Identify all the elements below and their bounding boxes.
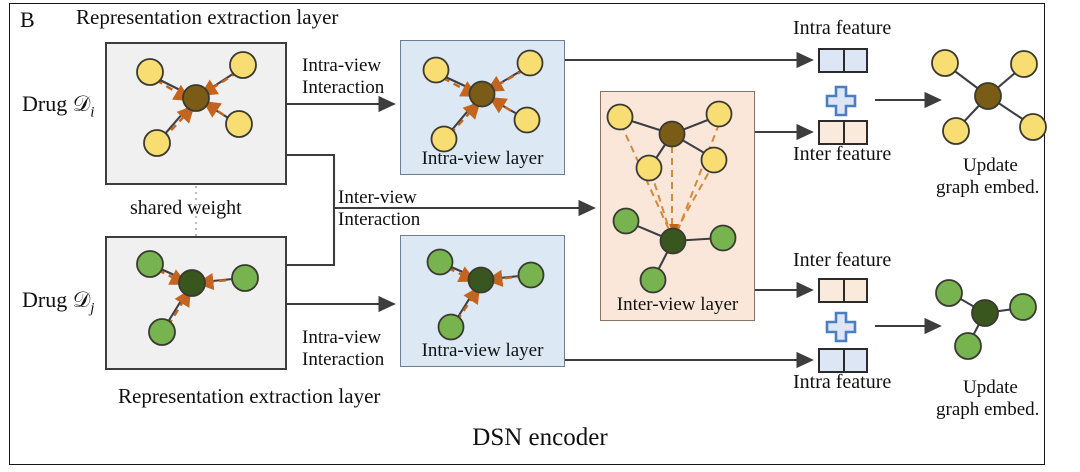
- intra-view-bottom-molecule-graph: [428, 250, 544, 340]
- drug-j-molecule-graph: [137, 251, 258, 345]
- update-graph-embed-top: [932, 50, 1046, 144]
- drug-i-molecule-graph: [137, 52, 256, 156]
- figure-panel-b: B Representation extraction layer Repres…: [0, 0, 1080, 472]
- arrow-inter-view: [287, 155, 594, 265]
- diagram-vector-layer: [0, 0, 1080, 472]
- inter-view-molecule-graphs: [608, 102, 736, 293]
- update-graph-embed-bottom: [936, 280, 1036, 359]
- intra-view-top-molecule-graph: [424, 51, 543, 152]
